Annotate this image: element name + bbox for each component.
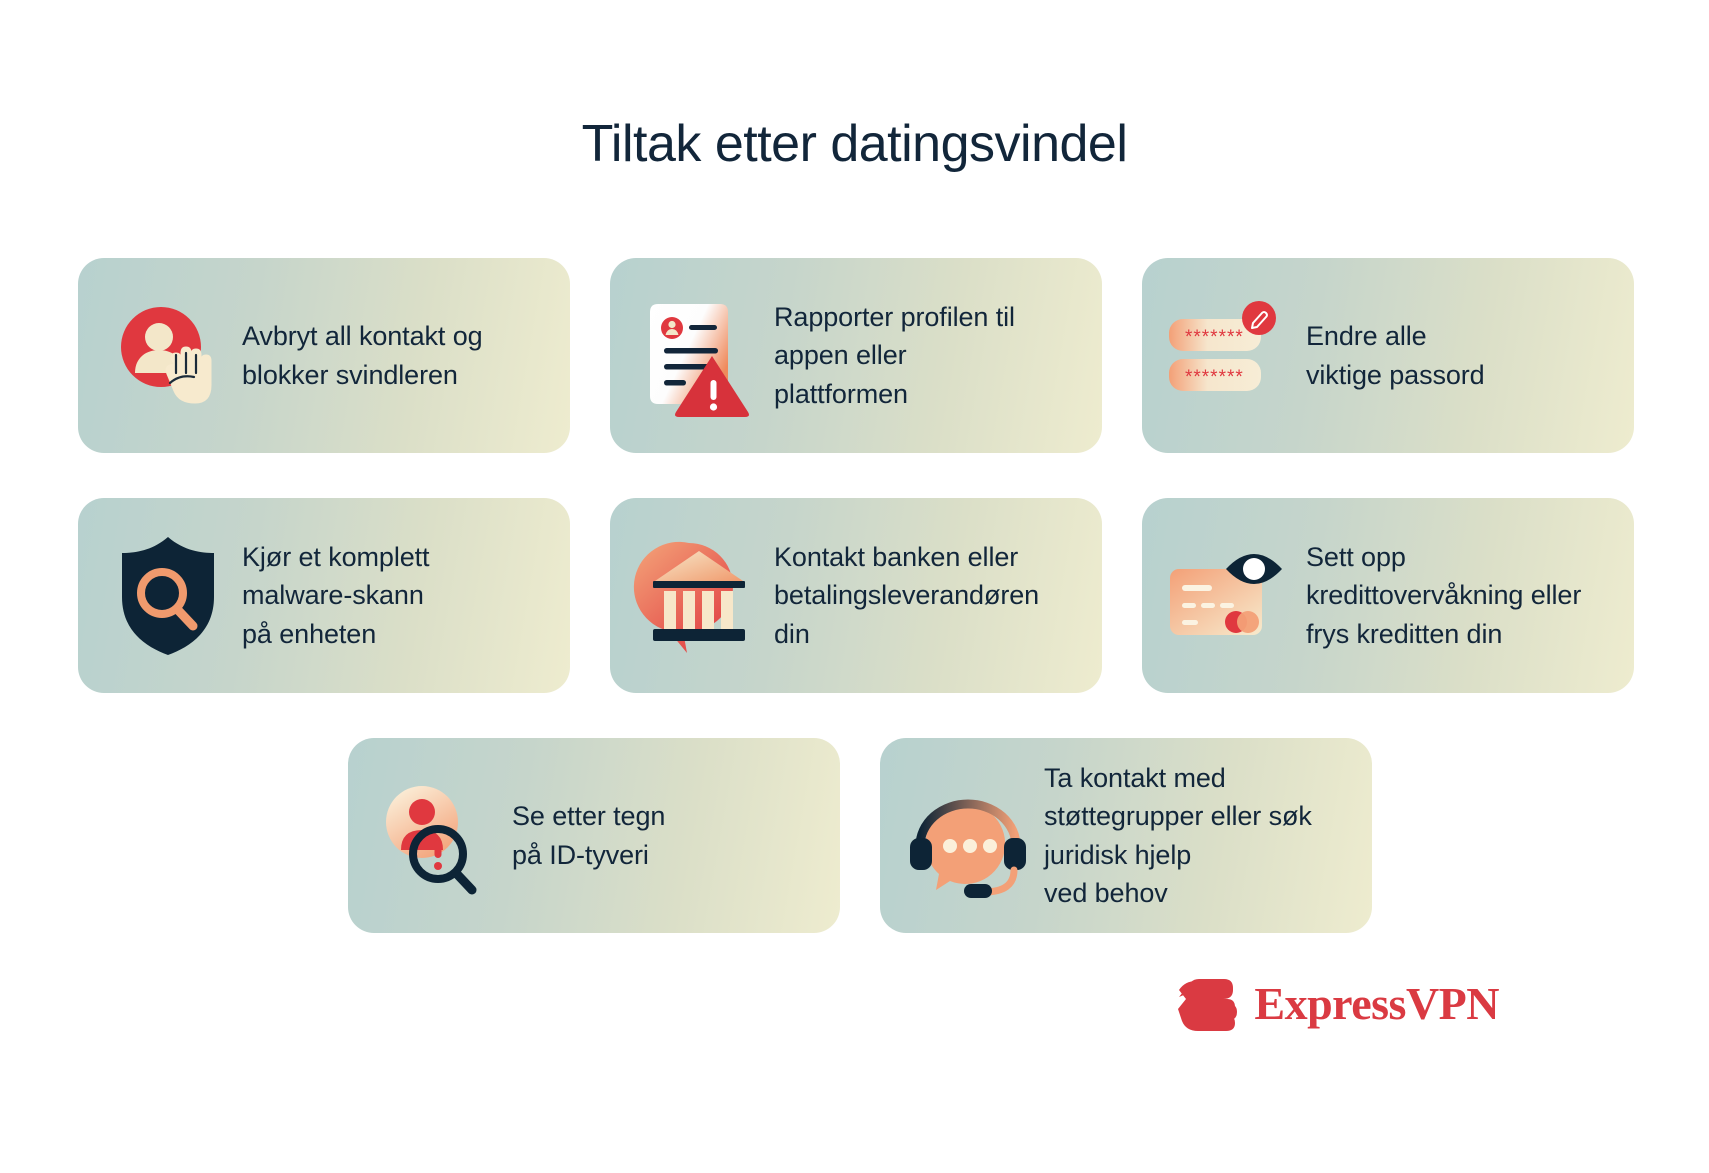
svg-text:*******: ******* (1185, 367, 1244, 388)
card-malware-scan[interactable]: Kjør et komplett malware-skann på enhete… (78, 498, 570, 693)
svg-text:*******: ******* (1185, 327, 1244, 348)
person-stop-hand-icon (108, 291, 228, 421)
password-fields-edit-icon: ******* ******* (1172, 291, 1292, 421)
card-label: Rapporter profilen til appen eller platt… (760, 298, 1015, 413)
card-row-2: Kjør et komplett malware-skann på enhete… (78, 498, 1634, 693)
card-label: Sett opp kredittovervåkning eller frys k… (1292, 538, 1581, 653)
card-contact-bank[interactable]: Kontakt banken eller betalingsleverandør… (610, 498, 1102, 693)
card-credit-monitoring[interactable]: Sett opp kredittovervåkning eller frys k… (1142, 498, 1634, 693)
credit-card-eye-icon (1172, 531, 1292, 661)
card-support-groups[interactable]: Ta kontakt med støttegrupper eller søk j… (880, 738, 1372, 933)
card-label: Kontakt banken eller betalingsleverandør… (760, 538, 1039, 653)
infographic-page: Tiltak etter datingsvindel (0, 0, 1709, 1173)
card-label: Se etter tegn på ID-tyveri (498, 797, 665, 874)
expressvpn-wordmark: ExpressVPN (1254, 981, 1499, 1027)
expressvpn-logo: ExpressVPN (1176, 973, 1499, 1035)
card-change-passwords[interactable]: ******* ******* Endre alle viktige passo… (1142, 258, 1634, 453)
bank-speech-bubble-icon (640, 531, 760, 661)
person-magnifier-alert-icon (378, 771, 498, 901)
card-label: Avbryt all kontakt og blokker svindleren (228, 317, 483, 394)
page-title: Tiltak etter datingsvindel (0, 115, 1709, 175)
card-label: Ta kontakt med støttegrupper eller søk j… (1030, 759, 1312, 912)
card-id-theft-signs[interactable]: Se etter tegn på ID-tyveri (348, 738, 840, 933)
headset-support-chat-icon (910, 771, 1030, 901)
expressvpn-e-mark-icon (1176, 973, 1238, 1035)
card-stop-contact[interactable]: Avbryt all kontakt og blokker svindleren (78, 258, 570, 453)
shield-magnifier-icon (108, 531, 228, 661)
card-report-profile[interactable]: Rapporter profilen til appen eller platt… (610, 258, 1102, 453)
report-document-warning-icon (640, 291, 760, 421)
card-label: Endre alle viktige passord (1292, 317, 1485, 394)
card-label: Kjør et komplett malware-skann på enhete… (228, 538, 429, 653)
cards-grid: Avbryt all kontakt og blokker svindleren (78, 258, 1634, 978)
card-row-3: Se etter tegn på ID-tyveri (78, 738, 1634, 933)
card-row-1: Avbryt all kontakt og blokker svindleren (78, 258, 1634, 453)
